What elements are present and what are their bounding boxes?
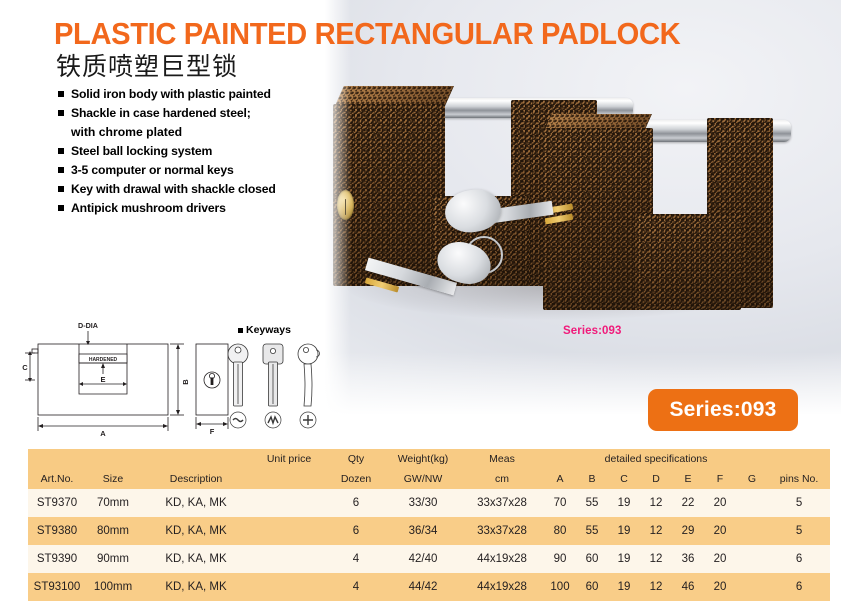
cell-spec-d: 12	[640, 489, 672, 517]
cell-spec-g	[736, 489, 768, 517]
cell-spec-d: 12	[640, 573, 672, 601]
cell-spec-e: 36	[672, 545, 704, 573]
feature-text-continuation: with chrome plated	[58, 124, 328, 141]
cell-pins: 5	[768, 489, 830, 517]
cell-pins: 5	[768, 517, 830, 545]
header-spacer	[86, 449, 140, 469]
cell-art-no: ST9390	[28, 545, 86, 573]
cell-qty-dozen: 6	[326, 489, 386, 517]
cell-spec-a: 70	[544, 489, 576, 517]
feature-text: Steel ball locking system	[71, 143, 212, 160]
square-bullet-icon	[58, 91, 64, 97]
cell-meas: 33x37x28	[460, 489, 544, 517]
drawing-label-c: C	[22, 363, 28, 372]
list-item: Solid iron body with plastic painted	[58, 86, 328, 103]
cell-art-no: ST9370	[28, 489, 86, 517]
specifications-table: Unit price Qty Weight(kg) Meas detailed …	[28, 449, 830, 601]
header-spec-c: C	[608, 469, 640, 489]
header-qty: Qty	[326, 449, 386, 469]
cell-spec-b: 60	[576, 545, 608, 573]
table-header-row-bottom: Art.No. Size Description Dozen GW/NW cm …	[28, 469, 830, 489]
header-spec-a: A	[544, 469, 576, 489]
cell-unit-price	[252, 489, 326, 517]
square-bullet-icon	[58, 205, 64, 211]
square-bullet-icon	[58, 186, 64, 192]
list-item: Antipick mushroom drivers	[58, 200, 328, 217]
cell-spec-c: 19	[608, 517, 640, 545]
cell-art-no: ST93100	[28, 573, 86, 601]
header-spec-e: E	[672, 469, 704, 489]
list-item: 3-5 computer or normal keys	[58, 162, 328, 179]
cell-size: 70mm	[86, 489, 140, 517]
cell-size: 90mm	[86, 545, 140, 573]
cell-size: 100mm	[86, 573, 140, 601]
drawing-label-e: E	[100, 375, 105, 384]
cell-weight: 44/42	[386, 573, 460, 601]
feature-text: 3-5 computer or normal keys	[71, 162, 234, 179]
cell-qty-dozen: 4	[326, 573, 386, 601]
feature-text: Key with drawal with shackle closed	[71, 181, 276, 198]
header-spacer	[28, 449, 86, 469]
keyways-illustration	[228, 344, 320, 428]
header-weight: Weight(kg)	[386, 449, 460, 469]
header-dozen: Dozen	[326, 469, 386, 489]
list-item: Shackle in case hardened steel;	[58, 105, 328, 122]
cell-meas: 33x37x28	[460, 517, 544, 545]
header-cm: cm	[460, 469, 544, 489]
cell-spec-c: 19	[608, 573, 640, 601]
cell-spec-d: 12	[640, 545, 672, 573]
table-row: ST93100 100mm KD, KA, MK 4 44/42 44x19x2…	[28, 573, 830, 601]
header-size: Size	[86, 469, 140, 489]
cell-weight: 36/34	[386, 517, 460, 545]
list-item: Key with drawal with shackle closed	[58, 181, 328, 198]
lock-right-bridge	[637, 214, 741, 310]
cell-description: KD, KA, MK	[140, 517, 252, 545]
cell-unit-price	[252, 517, 326, 545]
feature-list: Solid iron body with plastic painted Sha…	[58, 86, 328, 219]
square-bullet-icon	[238, 328, 243, 333]
cell-spec-e: 22	[672, 489, 704, 517]
cell-description: KD, KA, MK	[140, 573, 252, 601]
cell-spec-a: 90	[544, 545, 576, 573]
square-bullet-icon	[58, 110, 64, 116]
header-spacer	[252, 469, 326, 489]
header-spacer	[768, 449, 830, 469]
cell-description: KD, KA, MK	[140, 489, 252, 517]
cell-pins: 6	[768, 545, 830, 573]
series-badge: Series:093	[648, 389, 798, 431]
drawing-label-a: A	[100, 429, 106, 438]
top-region: PLASTIC PAINTED RECTANGULAR PADLOCK 铁质喷塑…	[0, 0, 841, 440]
cell-size: 80mm	[86, 517, 140, 545]
header-spec-d: D	[640, 469, 672, 489]
feature-text: Antipick mushroom drivers	[71, 200, 226, 217]
cell-unit-price	[252, 545, 326, 573]
header-meas: Meas	[460, 449, 544, 469]
square-bullet-icon	[58, 167, 64, 173]
cell-unit-price	[252, 573, 326, 601]
drawing-label-f: F	[210, 427, 215, 436]
cell-spec-a: 100	[544, 573, 576, 601]
cell-weight: 42/40	[386, 545, 460, 573]
cell-spec-g	[736, 573, 768, 601]
page-title: PLASTIC PAINTED RECTANGULAR PADLOCK	[54, 18, 680, 49]
cell-art-no: ST9380	[28, 517, 86, 545]
square-bullet-icon	[58, 148, 64, 154]
cell-spec-b: 55	[576, 489, 608, 517]
series-badge-label: Series:093	[669, 398, 776, 422]
feature-text: Shackle in case hardened steel;	[71, 105, 251, 122]
cell-spec-f: 20	[704, 489, 736, 517]
list-item: Steel ball locking system	[58, 143, 328, 160]
cell-spec-c: 19	[608, 489, 640, 517]
cell-qty-dozen: 6	[326, 517, 386, 545]
header-gw-nw: GW/NW	[386, 469, 460, 489]
header-description: Description	[140, 469, 252, 489]
header-spacer	[140, 449, 252, 469]
table-row: ST9370 70mm KD, KA, MK 6 33/30 33x37x28 …	[28, 489, 830, 517]
cell-qty-dozen: 4	[326, 545, 386, 573]
header-detailed-specifications: detailed specifications	[544, 449, 768, 469]
cell-spec-b: 55	[576, 517, 608, 545]
cell-meas: 44x19x28	[460, 545, 544, 573]
header-spec-b: B	[576, 469, 608, 489]
header-art-no: Art.No.	[28, 469, 86, 489]
header-spec-f: F	[704, 469, 736, 489]
cell-spec-d: 12	[640, 517, 672, 545]
cell-description: KD, KA, MK	[140, 545, 252, 573]
table-row: ST9380 80mm KD, KA, MK 6 36/34 33x37x28 …	[28, 517, 830, 545]
photo-series-label: Series:093	[563, 325, 622, 337]
header-pins-no: pins No.	[768, 469, 830, 489]
cell-spec-g	[736, 545, 768, 573]
page-subtitle-chinese: 铁质喷塑巨型锁	[56, 55, 238, 80]
cell-spec-f: 20	[704, 517, 736, 545]
cell-spec-c: 19	[608, 545, 640, 573]
cell-spec-f: 20	[704, 573, 736, 601]
drawing-label-b: B	[181, 379, 190, 385]
cell-spec-g	[736, 517, 768, 545]
cell-meas: 44x19x28	[460, 573, 544, 601]
drawing-label-d-dia: D-DIA	[78, 321, 98, 330]
table-header-row-top: Unit price Qty Weight(kg) Meas detailed …	[28, 449, 830, 469]
cell-spec-a: 80	[544, 517, 576, 545]
feature-text: Solid iron body with plastic painted	[71, 86, 271, 103]
table-row: ST9390 90mm KD, KA, MK 4 42/40 44x19x28 …	[28, 545, 830, 573]
cell-spec-f: 20	[704, 545, 736, 573]
drawing-label-hardened: HARDENED	[89, 357, 118, 363]
cell-spec-e: 46	[672, 573, 704, 601]
cell-weight: 33/30	[386, 489, 460, 517]
cell-spec-b: 60	[576, 573, 608, 601]
header-spec-g: G	[736, 469, 768, 489]
header-unit-price: Unit price	[252, 449, 326, 469]
cell-spec-e: 29	[672, 517, 704, 545]
cell-pins: 6	[768, 573, 830, 601]
keyways-title: Keyways	[246, 324, 291, 336]
